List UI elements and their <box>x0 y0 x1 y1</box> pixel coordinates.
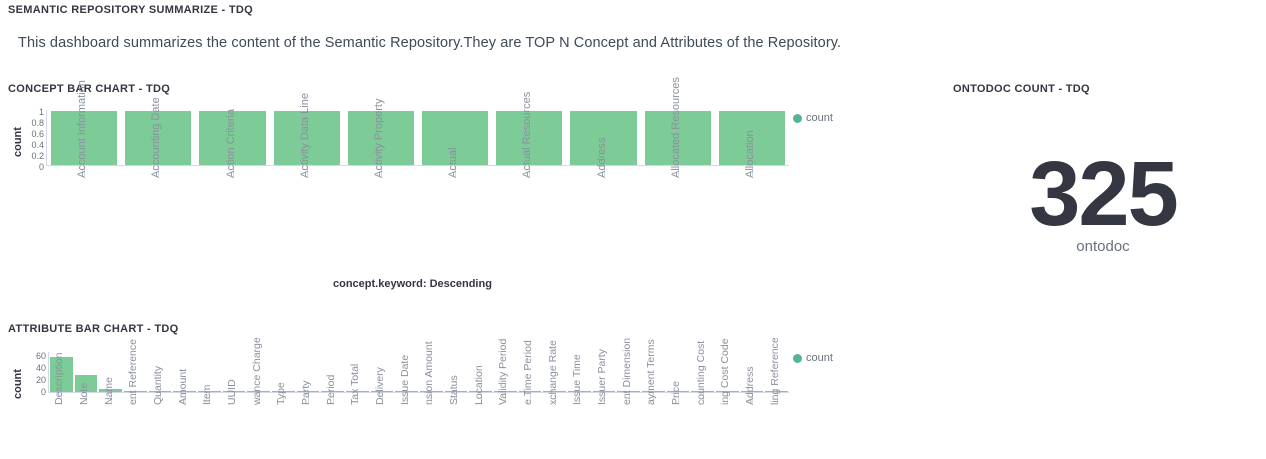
ontodoc-panel-title: ONTODOC COUNT - TDQ <box>953 83 1090 95</box>
x-axis-tick-label: ling Reference <box>769 337 781 405</box>
x-axis-tick-label: ing Cost Code <box>719 338 731 405</box>
attribute-y-tick-labels: 60 40 20 0 <box>24 352 46 396</box>
x-axis-tick-label: ent Dimension <box>621 338 633 405</box>
x-axis-tick-label: Tax Total <box>349 364 361 405</box>
x-axis-tick-label: Status <box>448 375 460 405</box>
x-axis-tick-label: wance Charge <box>251 337 263 405</box>
x-axis-tick-label: Price <box>670 381 682 405</box>
x-axis-tick-label: Delivery <box>374 367 386 405</box>
attribute-y-axis-title: count <box>12 355 24 399</box>
x-axis-tick-label: Issue Date <box>399 355 411 405</box>
attribute-y-tick: 0 <box>41 388 46 396</box>
x-axis-tick-label: Party <box>300 380 312 405</box>
x-axis-tick-label: Type <box>275 382 287 405</box>
x-axis-tick-label: Address <box>744 366 756 405</box>
ontodoc-metric-label: ontodoc <box>940 238 1266 255</box>
attribute-bar-chart-panel: ATTRIBUTE BAR CHART - TDQ count 60 40 20… <box>0 0 940 459</box>
x-axis-tick-label: Name <box>103 377 115 405</box>
x-axis-tick-label: Item <box>201 385 213 405</box>
legend-color-dot <box>793 354 802 363</box>
x-axis-tick-label: Issue Time <box>571 354 583 405</box>
x-axis-tick-label: UUID <box>226 379 238 405</box>
x-axis-tick-label: Period <box>325 375 337 405</box>
attribute-y-tick: 40 <box>36 364 46 372</box>
x-axis-tick-label: ayment Terms <box>645 339 657 405</box>
attribute-y-tick: 60 <box>36 352 46 360</box>
attribute-x-axis-labels: DescriptionNoteNameent ReferenceQuantity… <box>49 393 789 459</box>
x-axis-tick-label: Quantity <box>152 366 164 405</box>
x-axis-tick-label: counting Cost <box>695 341 707 405</box>
attribute-y-tick: 20 <box>36 376 46 384</box>
x-axis-tick-label: xchange Rate <box>547 340 559 405</box>
ontodoc-count-panel: ONTODOC COUNT - TDQ 325 ontodoc <box>940 0 1266 300</box>
x-axis-tick-label: Location <box>473 365 485 405</box>
dashboard-page: SEMANTIC REPOSITORY SUMMARIZE - TDQ This… <box>0 0 1266 459</box>
x-axis-tick-label: Amount <box>177 369 189 405</box>
x-axis-tick-label: nsion Amount <box>423 341 435 405</box>
x-axis-tick-label: e Time Period <box>522 340 534 405</box>
attribute-legend[interactable]: count <box>793 352 833 364</box>
attribute-panel-title: ATTRIBUTE BAR CHART - TDQ <box>8 323 178 335</box>
x-axis-tick-label: ent Reference <box>127 339 139 405</box>
ontodoc-metric-value: 325 <box>940 148 1266 240</box>
x-axis-tick-label: Description <box>53 352 65 405</box>
x-axis-tick-label: Validity Period <box>497 339 509 405</box>
x-axis-tick-label: Note <box>78 383 90 405</box>
x-axis-tick-label: Issuer Party <box>596 349 608 405</box>
legend-label: count <box>806 352 833 364</box>
